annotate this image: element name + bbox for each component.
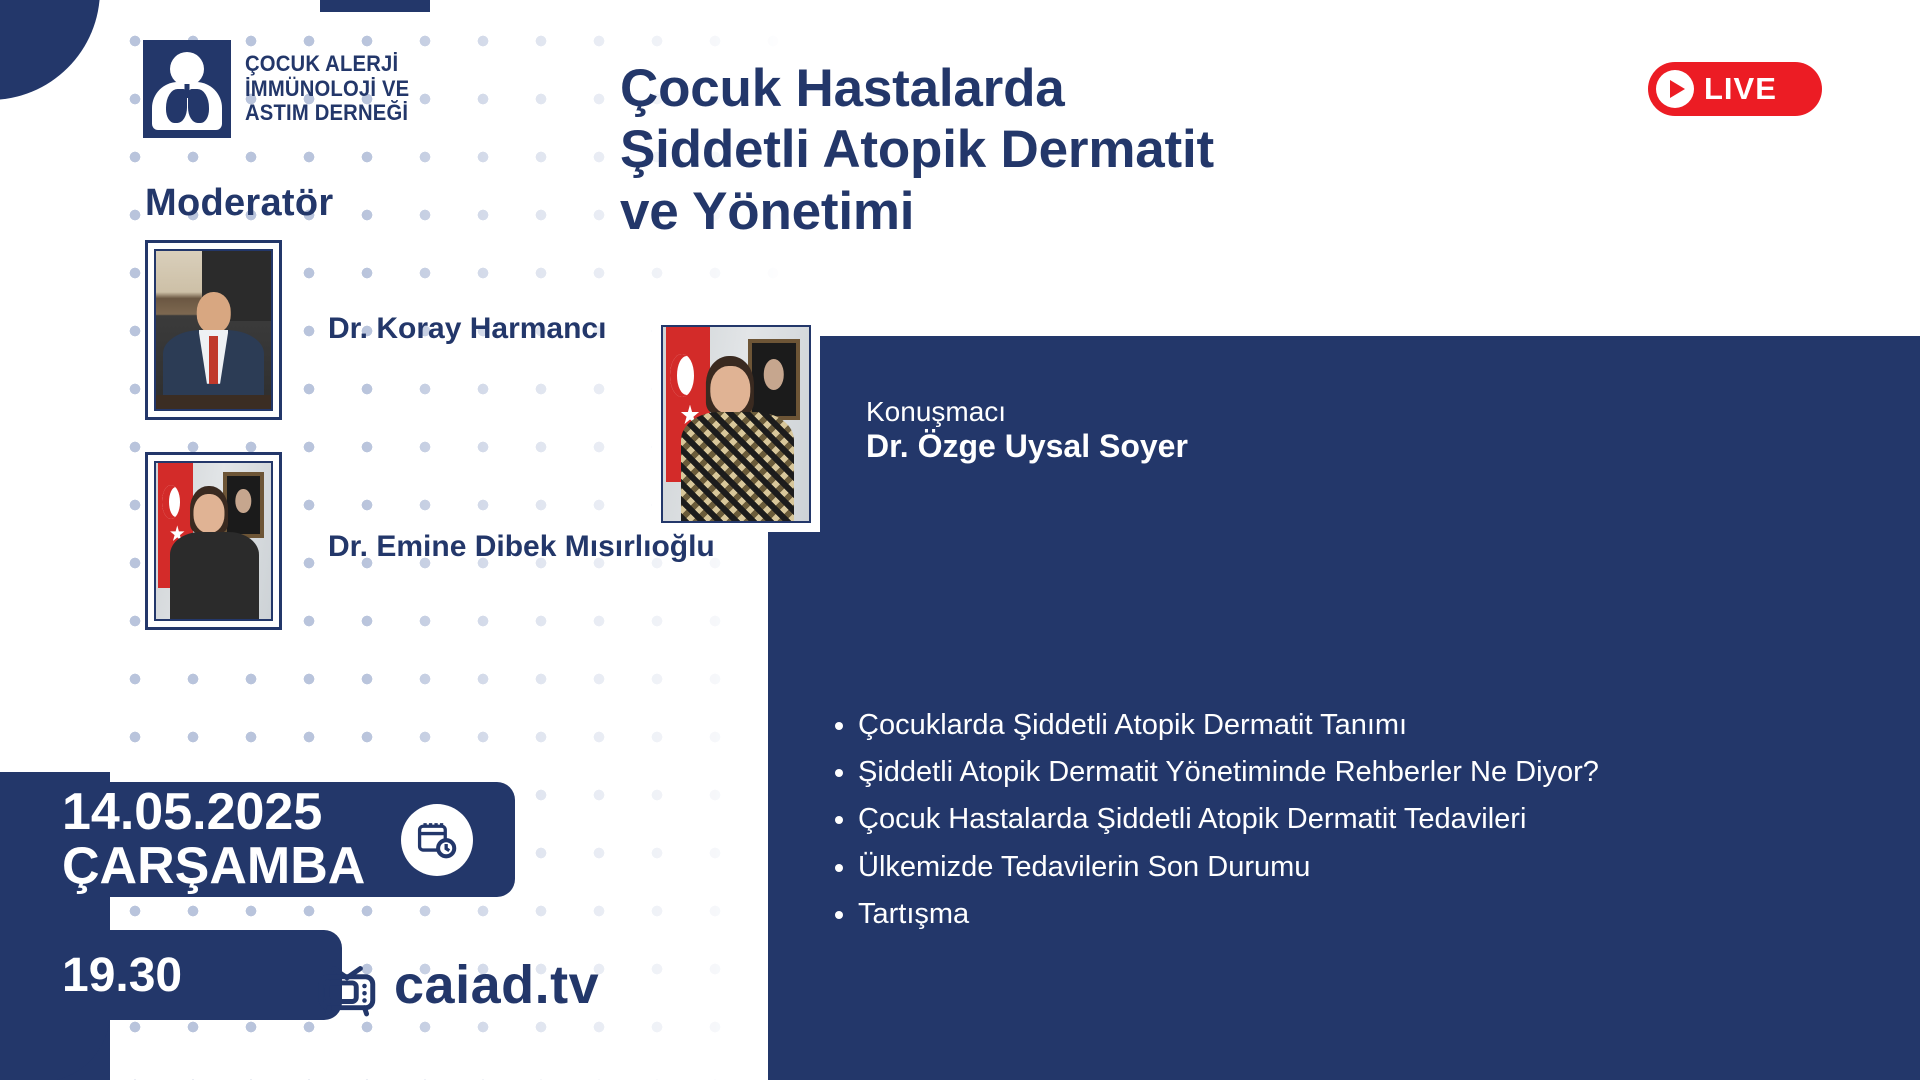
list-item: Şiddetli Atopik Dermatit Yönetiminde Reh… [858,752,1822,793]
portrait-koray-harmanci [156,251,271,409]
speaker-label: Konuşmacı [866,396,1006,428]
calendar-clock-icon [401,804,473,876]
channel-row[interactable]: caiad.tv [312,952,599,1018]
moderator-name-1: Dr. Koray Harmancı [328,312,606,346]
topics-ul: Çocuklarda Şiddetli Atopik Dermatit Tanı… [822,705,1822,935]
right-edge-strip [1888,0,1920,1080]
list-item: Ülkemizde Tedavilerin Son Durumu [858,847,1822,888]
channel-label: caiad.tv [394,954,599,1016]
list-item: Tartışma [858,894,1822,935]
live-badge[interactable]: LIVE [1648,62,1822,116]
list-item: Çocuk Hastalarda Şiddetli Atopik Dermati… [858,799,1822,840]
television-icon [312,952,384,1018]
logo-text: ÇOCUK ALERJİ İMMÜNOLOJİ VE ASTIM DERNEĞİ [245,52,409,126]
time-text: 19.30 [62,948,182,1003]
time-badge: 19.30 [0,930,342,1020]
webinar-poster: ÇOCUK ALERJİ İMMÜNOLOJİ VE ASTIM DERNEĞİ… [0,0,1920,1080]
date-text: 14.05.2025 ÇARŞAMBA [62,786,365,892]
association-logo: ÇOCUK ALERJİ İMMÜNOLOJİ VE ASTIM DERNEĞİ [143,40,424,138]
topics-list: Çocuklarda Şiddetli Atopik Dermatit Tanı… [822,705,1822,941]
moderator-heading: Moderatör [145,182,334,225]
page-title: Çocuk Hastalarda Şiddetli Atopik Dermati… [620,58,1214,242]
moderator-photo-2 [145,452,282,630]
decor-shape-top-tab [320,0,430,12]
portrait-emine-dibek-misirlioglu [156,463,271,619]
date-badge: 14.05.2025 ÇARŞAMBA [0,782,515,897]
list-item: Çocuklarda Şiddetli Atopik Dermatit Tanı… [858,705,1822,746]
portrait-ozge-uysal-soyer [663,327,809,521]
speaker-photo [652,316,820,532]
decor-shape-top-left [0,0,100,100]
lungs-person-icon [143,40,231,138]
live-label: LIVE [1704,71,1777,107]
play-icon [1656,70,1694,108]
moderator-name-2: Dr. Emine Dibek Mısırlıoğlu [328,530,715,564]
moderator-photo-1 [145,240,282,420]
speaker-name: Dr. Özge Uysal Soyer [866,428,1188,465]
